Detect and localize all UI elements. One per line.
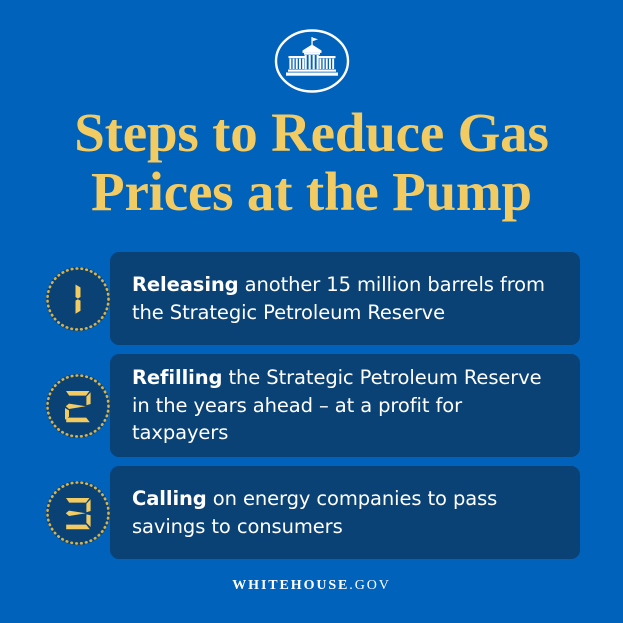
- step-number-badge-2: [44, 372, 112, 440]
- list-item: Refilling the Strategic Petroleum Reserv…: [0, 354, 623, 457]
- infographic-poster: Steps to Reduce Gas Prices at the Pump: [0, 0, 623, 623]
- title-line-2: Prices at the Pump: [36, 163, 587, 222]
- step-text-2: Refilling the Strategic Petroleum Reserv…: [132, 364, 564, 447]
- footer-site-name: WHITEHOUSE: [232, 578, 349, 593]
- title-line-1: Steps to Reduce Gas: [36, 104, 587, 163]
- seal-container: [0, 26, 623, 96]
- step-number-badge-1: [44, 265, 112, 333]
- step-card-2: Refilling the Strategic Petroleum Reserv…: [110, 354, 580, 457]
- step-text-3: Calling on energy companies to pass savi…: [132, 485, 564, 540]
- list-item: Releasing another 15 million barrels fro…: [0, 252, 623, 345]
- step-card-3: Calling on energy companies to pass savi…: [110, 466, 580, 559]
- white-house-seal-icon: [273, 28, 351, 94]
- step-text-1: Releasing another 15 million barrels fro…: [132, 271, 564, 326]
- list-item: Calling on energy companies to pass savi…: [0, 466, 623, 559]
- step-lead-3: Calling: [132, 487, 207, 510]
- page-title: Steps to Reduce Gas Prices at the Pump: [36, 104, 587, 222]
- step-lead-2: Refilling: [132, 366, 222, 389]
- step-card-1: Releasing another 15 million barrels fro…: [110, 252, 580, 345]
- footer-wordmark[interactable]: WHITEHOUSE.GOV: [0, 578, 623, 594]
- step-number-badge-3: [44, 479, 112, 547]
- footer-site-tld: .GOV: [349, 578, 390, 593]
- steps-list: Releasing another 15 million barrels fro…: [0, 252, 623, 568]
- step-lead-1: Releasing: [132, 273, 239, 296]
